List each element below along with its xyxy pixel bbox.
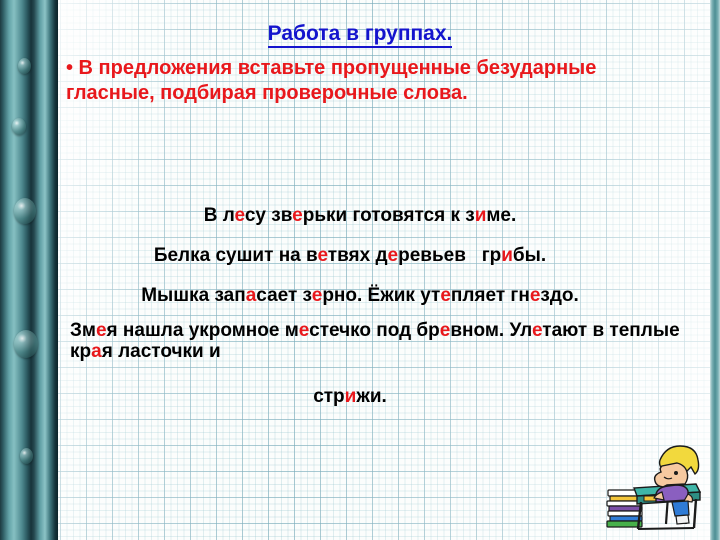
highlighted-vowel: и (345, 386, 357, 407)
water-droplet-icon (18, 58, 31, 74)
page-title-text: Работа в группах. (268, 22, 453, 48)
sentence-text: стр (313, 386, 344, 407)
sentence-text: пляет гн (451, 285, 530, 306)
sentence-text: жи. (356, 386, 386, 407)
sentence-text: вном. Ул (450, 320, 532, 341)
sentence-text: бы. (513, 245, 546, 266)
sentence-text: я ласточки и (102, 341, 221, 362)
slide-canvas: Работа в группах. • В предложения вставь… (0, 0, 720, 540)
boy-at-desk-illustration (604, 432, 712, 536)
highlighted-vowel: е (312, 285, 323, 306)
highlighted-vowel: а (91, 341, 102, 362)
sentence-text: сает з (256, 285, 311, 306)
highlighted-vowel: е (532, 320, 542, 341)
sentence-text: В л (204, 205, 235, 226)
sentence-text: стечко под бр (309, 320, 440, 341)
highlighted-vowel: е (530, 285, 541, 306)
sentence-text: здо. (540, 285, 578, 306)
sentence-text: Зм (70, 320, 96, 341)
highlighted-vowel: е (440, 285, 451, 306)
sentence-text: су зв (245, 205, 292, 226)
sentence-line-1: В лесу зверьки готовятся к зиме. (0, 205, 720, 226)
page-title: Работа в группах. (0, 22, 720, 46)
water-droplet-icon (12, 118, 26, 135)
highlighted-vowel: е (440, 320, 451, 341)
sentence-line-3: Мышка запасает зерно. Ёжик утепляет гнез… (0, 285, 720, 306)
task-instruction: • В предложения вставьте пропущенные без… (66, 56, 666, 106)
highlighted-vowel: е (292, 205, 303, 226)
sentence-text: твях д (328, 245, 388, 266)
sentence-text: Мышка зап (141, 285, 245, 306)
highlighted-vowel: и (501, 245, 513, 266)
highlighted-vowel: и (475, 205, 487, 226)
highlighted-vowel: е (299, 320, 309, 341)
sentence-text: Белка сушит на в (154, 245, 318, 266)
highlighted-vowel: е (388, 245, 399, 266)
sentence-line-5: стрижи. (0, 386, 700, 407)
water-droplet-icon (20, 448, 33, 464)
sentence-text: ме. (486, 205, 516, 226)
sentence-line-2: Белка сушит на ветвях деревьев грибы. (0, 245, 700, 266)
water-droplet-icon (14, 330, 38, 358)
sentence-text: рно. Ёжик ут (322, 285, 440, 306)
sentence-text: ревьев гр (398, 245, 501, 266)
sentence-text: я нашла укромное м (107, 320, 299, 341)
sentence-text: рьки готовятся к з (303, 205, 475, 226)
highlighted-vowel: е (96, 320, 107, 341)
sentence-line-4: Змея нашла укромное местечко под бревном… (70, 320, 710, 362)
highlighted-vowel: е (235, 205, 245, 226)
highlighted-vowel: а (246, 285, 257, 306)
highlighted-vowel: е (317, 245, 327, 266)
